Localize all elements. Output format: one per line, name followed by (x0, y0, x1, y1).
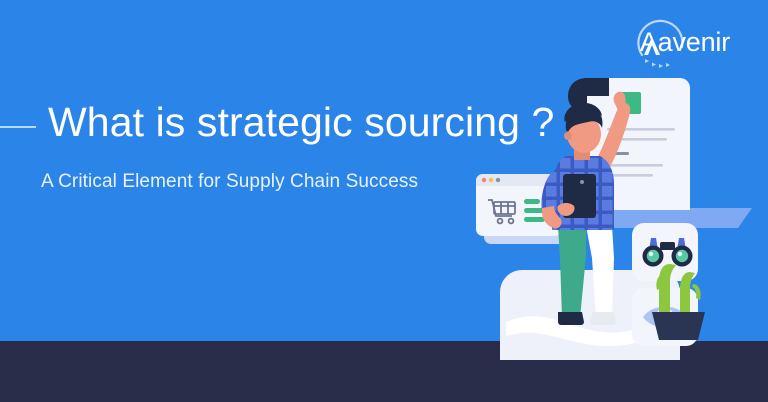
headline-accent-dash (0, 126, 36, 128)
hero-banner: What is strategic sourcing ? A Critical … (0, 0, 768, 402)
brand-logo[interactable]: Aavenir (640, 20, 730, 64)
page-title: What is strategic sourcing ? (48, 99, 554, 146)
page-subtitle: A Critical Element for Supply Chain Succ… (41, 170, 418, 195)
brand-name: Aavenir (640, 29, 730, 56)
